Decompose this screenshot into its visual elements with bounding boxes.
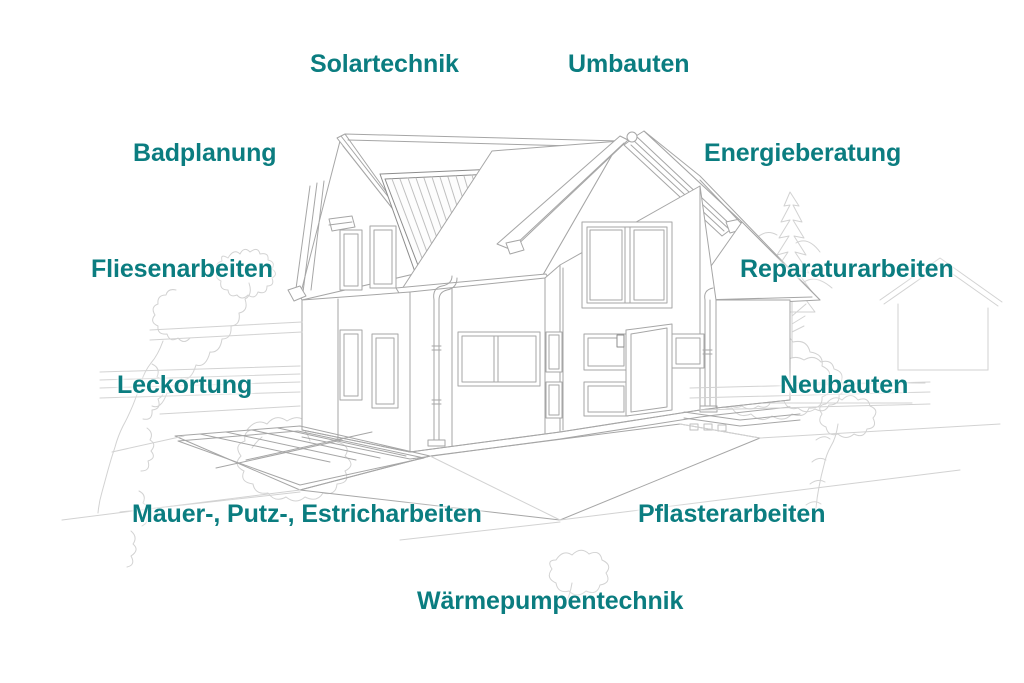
service-label-leckortung[interactable]: Leckortung: [117, 373, 252, 398]
service-label-waermepumpentechnik[interactable]: Wärmepumpentechnik: [417, 589, 683, 614]
service-labels-layer: Solartechnik Umbauten Badplanung Energie…: [0, 0, 1024, 683]
service-label-mauer-putz-estricharbeiten[interactable]: Mauer-, Putz-, Estricharbeiten: [132, 502, 482, 527]
service-label-solartechnik[interactable]: Solartechnik: [310, 52, 459, 77]
service-label-badplanung[interactable]: Badplanung: [133, 141, 276, 166]
service-label-reparaturarbeiten[interactable]: Reparaturarbeiten: [740, 257, 954, 282]
service-label-energieberatung[interactable]: Energieberatung: [704, 141, 901, 166]
service-label-umbauten[interactable]: Umbauten: [568, 52, 689, 77]
services-overview-graphic: Solartechnik Umbauten Badplanung Energie…: [0, 0, 1024, 683]
service-label-pflasterarbeiten[interactable]: Pflasterarbeiten: [638, 502, 825, 527]
service-label-neubauten[interactable]: Neubauten: [780, 373, 908, 398]
service-label-fliesenarbeiten[interactable]: Fliesenarbeiten: [91, 257, 273, 282]
